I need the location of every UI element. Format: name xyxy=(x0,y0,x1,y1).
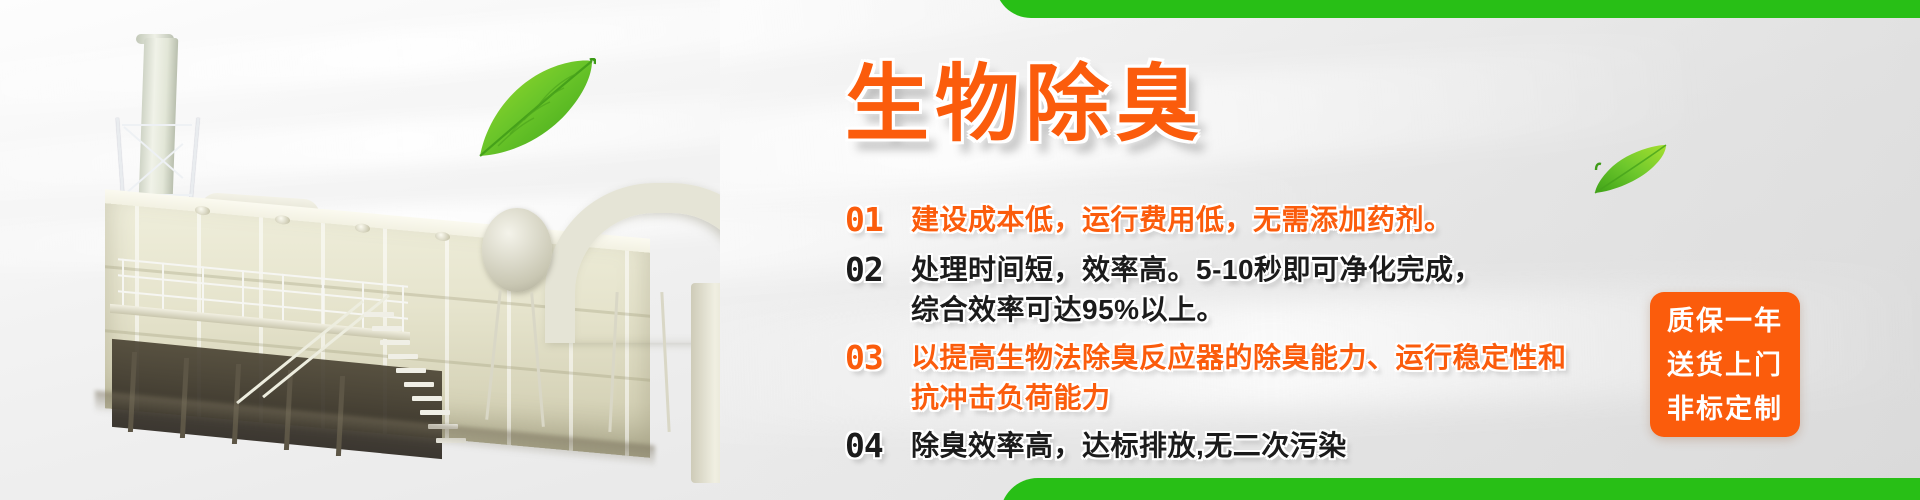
feature-list: 01 建设成本低，运行费用低，无需添加药剂。 02 处理时间短，效率高。5-10… xyxy=(845,200,1625,472)
guarantee-badge[interactable]: 质保一年 送货上门 非标定制 xyxy=(1650,292,1800,437)
badge-line-warranty: 质保一年 xyxy=(1667,299,1783,343)
feature-text: 以提高生物法除臭反应器的除臭能力、运行稳定性和 抗冲击负荷能力 xyxy=(911,338,1567,418)
leaf-icon xyxy=(1594,143,1668,195)
feature-item: 01 建设成本低，运行费用低，无需添加药剂。 xyxy=(845,200,1625,240)
feature-item: 02 处理时间短，效率高。5-10秒即可净化完成， 综合效率可达95%以上。 xyxy=(845,250,1625,330)
feature-text: 建设成本低，运行费用低，无需添加药剂。 xyxy=(911,200,1453,240)
promo-banner: 生物除臭 01 建设成本低，运行费用低，无需添加药剂。 02 处理时间短，效率高… xyxy=(0,0,1920,500)
feature-number: 02 xyxy=(845,250,911,290)
feature-item: 04 除臭效率高，达标排放,无二次污染 xyxy=(845,426,1625,466)
product-photo xyxy=(0,0,720,500)
feature-text: 处理时间短，效率高。5-10秒即可净化完成， 综合效率可达95%以上。 xyxy=(911,250,1482,330)
bottom-green-bar xyxy=(1000,478,1920,500)
leaf-icon xyxy=(478,58,596,162)
feature-item: 03 以提高生物法除臭反应器的除臭能力、运行稳定性和 抗冲击负荷能力 xyxy=(845,338,1625,418)
feature-text: 除臭效率高，达标排放,无二次污染 xyxy=(911,426,1347,466)
duct-flange-disc xyxy=(482,208,552,292)
feature-number: 01 xyxy=(845,200,911,240)
feature-number: 04 xyxy=(845,426,911,466)
exhaust-duct-elbow xyxy=(545,183,720,313)
banner-title: 生物除臭 xyxy=(845,62,1205,146)
feature-number: 03 xyxy=(845,338,911,378)
badge-line-custom: 非标定制 xyxy=(1667,387,1783,431)
top-green-bar xyxy=(995,0,1920,18)
badge-line-delivery: 送货上门 xyxy=(1667,343,1783,387)
